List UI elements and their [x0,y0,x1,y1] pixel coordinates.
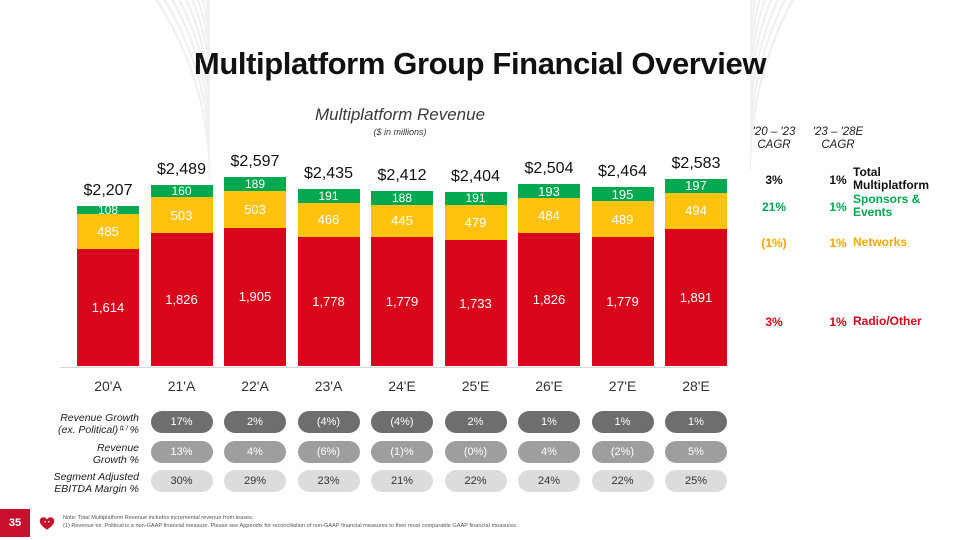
metric-row-label-line1: Segment Adjusted [14,471,139,483]
slide-canvas: Multiplatform Group Financial Overview M… [0,0,960,540]
x-axis-label: 28'E [665,378,727,394]
bar-segment-value: 503 [171,209,193,222]
bar-segment-radio-other: 1,891 [665,229,727,366]
bar-segment-networks: 503 [151,197,213,234]
bar-segment-radio-other: 1,826 [518,233,580,366]
bar-segment-value: 1,826 [165,293,198,306]
metric-pill: 13% [151,441,213,463]
bar-segment-networks: 466 [298,203,360,237]
bar-segment-value: 191 [318,190,338,202]
heart-logo-icon [38,514,56,532]
metric-pill: 22% [592,470,654,492]
metric-pill: 1% [665,411,727,433]
bar-segment-value: 188 [392,192,412,204]
metric-pill: 17% [151,411,213,433]
cagr-value-2020-2023: 3% [742,315,806,329]
bar-segment-radio-other: 1,779 [371,237,433,366]
bar-segment-value: 479 [465,216,487,229]
bar-segment-networks: 479 [445,205,507,240]
metric-pill: 2% [224,411,286,433]
metric-pill: 25% [665,470,727,492]
bar-segment-sponsors-events: 197 [665,179,727,193]
bar-segment-value: 195 [612,188,634,201]
metric-row-label-line1: Revenue [14,442,139,454]
cagr-header-2020-2023-line2: CAGR [742,139,806,152]
bar-segment-sponsors-events: 160 [151,185,213,197]
bar-segment-sponsors-events: 191 [298,189,360,203]
x-axis-label: 27'E [592,378,654,394]
bar-segment-radio-other: 1,733 [445,240,507,366]
metric-pill: (0%) [445,441,507,463]
bar-segment-value: 1,779 [386,295,419,308]
cagr-series-label-line1: Networks [853,236,960,249]
metric-row-label-line2: (ex. Political)⁽¹⁾ % [14,424,139,436]
metric-row-label: RevenueGrowth % [14,442,139,466]
bar-segment-radio-other: 1,779 [592,237,654,366]
bar-segment-networks: 485 [77,214,139,249]
metric-pill: 2% [445,411,507,433]
metric-row-label: Revenue Growth(ex. Political)⁽¹⁾ % [14,412,139,436]
footnote-line-1: Note: Total Multiplatform Revenue includ… [63,514,254,522]
metric-pill: 4% [224,441,286,463]
bar-segment-value: 484 [538,209,560,222]
metric-pill: (2%) [592,441,654,463]
metric-pill: 22% [445,470,507,492]
cagr-value-2020-2023: 3% [742,173,806,187]
cagr-series-label-line1: Radio/Other [853,315,960,328]
metric-pill: 5% [665,441,727,463]
metric-pill: 21% [371,470,433,492]
bar-segment-value: 494 [685,204,707,217]
metric-pill: (4%) [298,411,360,433]
bar-segment-value: 1,614 [92,301,125,314]
bar-segment-value: 489 [612,213,634,226]
bar-segment-networks: 503 [224,191,286,228]
metric-pill: 24% [518,470,580,492]
x-axis-label: 25'E [445,378,507,394]
bar-segment-value: 193 [538,185,560,198]
cagr-value-2020-2023: 21% [742,200,806,214]
bar-segment-value: 466 [318,213,340,226]
bar-segment-value: 1,733 [459,297,492,310]
bar-segment-value: 189 [245,178,265,190]
bar-segment-networks: 445 [371,205,433,237]
cagr-header-2023-2028-line2: CAGR [806,139,870,152]
metric-pill: 1% [592,411,654,433]
bar-total-label: $2,207 [53,182,163,200]
bar-segment-radio-other: 1,826 [151,233,213,366]
x-axis-label: 23'A [298,378,360,394]
bar-segment-value: 1,778 [312,295,345,308]
bar-segment-radio-other: 1,614 [77,249,139,366]
bar-segment-sponsors-events: 193 [518,184,580,198]
bar-segment-value: 485 [97,225,119,238]
metric-pill: 30% [151,470,213,492]
cagr-series-label: Networks [853,236,960,249]
bar-segment-value: 445 [391,214,413,227]
bar-segment-value: 108 [98,204,118,216]
bar-segment-sponsors-events: 195 [592,187,654,201]
bar-segment-value: 191 [465,192,485,204]
bar-segment-value: 1,826 [533,293,566,306]
x-axis-label: 20'A [77,378,139,394]
metric-row-label: Segment AdjustedEBITDA Margin % [14,471,139,495]
cagr-series-label: Radio/Other [853,315,960,328]
metric-pill: 1% [518,411,580,433]
bar-segment-radio-other: 1,778 [298,237,360,366]
metric-pill: 29% [224,470,286,492]
bar-segment-value: 503 [244,203,266,216]
x-axis-label: 26'E [518,378,580,394]
x-axis-label: 24'E [371,378,433,394]
bar-segment-radio-other: 1,905 [224,228,286,366]
bar-segment-value: 1,905 [239,290,272,303]
cagr-header-2023-2028-line1: '23 – '28E [806,126,870,139]
x-axis-label: 21'A [151,378,213,394]
cagr-value-2020-2023: (1%) [742,236,806,250]
cagr-series-label-line2: Multiplatform [853,179,960,192]
metric-pill: (6%) [298,441,360,463]
bar-segment-sponsors-events: 108 [77,206,139,214]
metric-pill: 4% [518,441,580,463]
bar-segment-networks: 489 [592,201,654,237]
x-axis-label: 22'A [224,378,286,394]
metric-row-label-line2: EBITDA Margin % [14,483,139,495]
bar-segment-sponsors-events: 188 [371,191,433,205]
metric-row-label-line1: Revenue Growth [14,412,139,424]
bar-segment-value: 160 [171,185,191,197]
bar-segment-value: 1,779 [606,295,639,308]
bar-total-label: $2,583 [641,155,751,173]
bar-segment-sponsors-events: 191 [445,192,507,206]
metric-pill: (4%) [371,411,433,433]
cagr-header-2020-2023: '20 – '23CAGR [742,126,806,152]
cagr-header-2020-2023-line1: '20 – '23 [742,126,806,139]
metric-pill: (1)% [371,441,433,463]
metric-pill: 23% [298,470,360,492]
bar-segment-value: 1,891 [680,291,713,304]
cagr-series-label: Sponsors &Events [853,193,960,219]
metric-row-label-line2: Growth % [14,454,139,466]
cagr-series-label: TotalMultiplatform [853,166,960,192]
cagr-header-2023-2028: '23 – '28ECAGR [806,126,870,152]
page-number-badge: 35 [0,509,30,537]
cagr-series-label-line2: Events [853,206,960,219]
bar-segment-value: 197 [685,179,707,192]
footnote-line-2: (1) Revenue ex. Political is a non-GAAP … [63,522,518,530]
chart-baseline [60,367,720,368]
bar-segment-networks: 484 [518,198,580,233]
bar-segment-networks: 494 [665,193,727,229]
